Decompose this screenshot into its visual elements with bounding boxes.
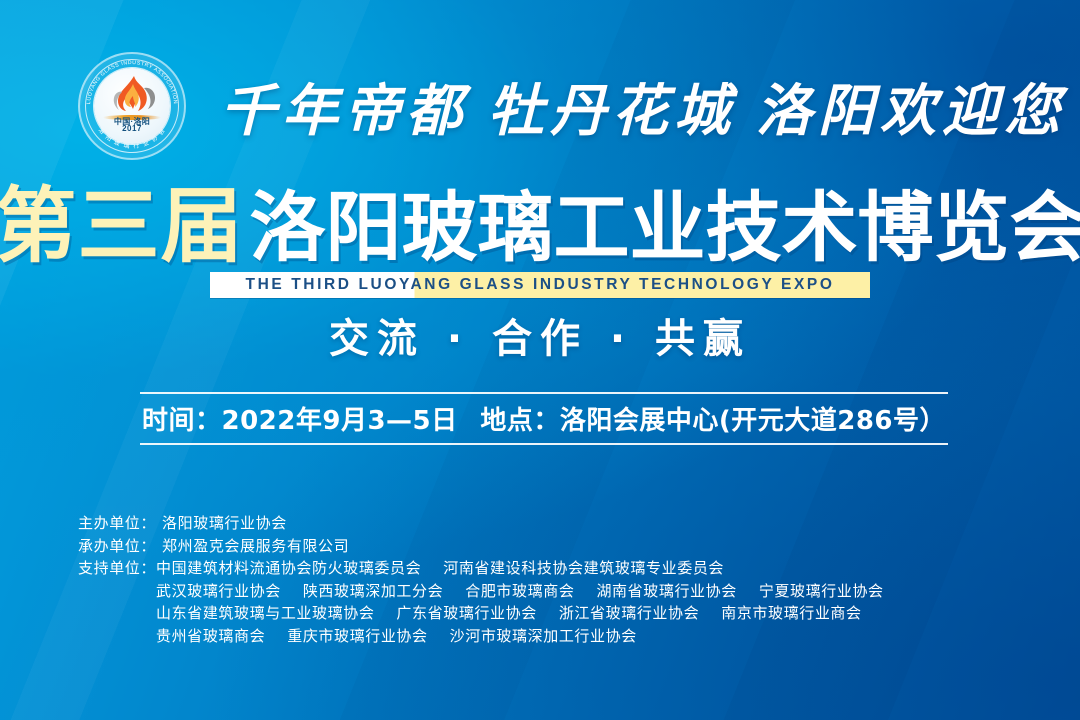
support-unit: 中国建筑材料流通协会防火玻璃委员会	[156, 557, 421, 580]
poster-header: LUOYANG GLASS INDUSTRY ASSOCIATION 洛 阳 玻…	[0, 46, 1080, 166]
support-label: 支持单位：	[78, 557, 156, 580]
english-title-text: THE THIRD LUOYANG GLASS INDUSTRY TECHNOL…	[210, 276, 870, 294]
support-row: 贵州省玻璃商会重庆市玻璃行业协会沙河市玻璃深加工行业协会	[156, 625, 884, 648]
event-place: 地点：洛阳会展中心(开元大道286号）	[480, 400, 946, 437]
support-unit: 河南省建设科技协会建筑玻璃专业委员会	[443, 557, 724, 580]
support-unit: 武汉玻璃行业协会	[156, 580, 281, 603]
support-row: 武汉玻璃行业协会陕西玻璃深加工分会合肥市玻璃商会湖南省玻璃行业协会宁夏玻璃行业协…	[156, 580, 884, 603]
details-inner: 时间：2022年9月3—5日 地点：洛阳会展中心(开元大道286号）	[140, 394, 948, 443]
support-unit: 陕西玻璃深加工分会	[303, 580, 443, 603]
host-line: 主办单位： 洛阳玻璃行业协会	[78, 512, 1018, 535]
support-row: 中国建筑材料流通协会防火玻璃委员会河南省建设科技协会建筑玻璃专业委员会	[156, 557, 884, 580]
title-row: 第三届 洛阳玻璃工业技术博览会	[0, 186, 1080, 268]
support-unit: 浙江省玻璃行业协会	[559, 602, 699, 625]
support-unit: 湖南省玻璃行业协会	[596, 580, 736, 603]
association-logo: LUOYANG GLASS INDUSTRY ASSOCIATION 洛 阳 玻…	[78, 52, 186, 160]
support-unit: 沙河市玻璃深加工行业协会	[450, 625, 637, 648]
title-block: 第三届 洛阳玻璃工业技术博览会 THE THIRD LUOYANG GLASS …	[0, 186, 1080, 298]
support-unit: 合肥市玻璃商会	[465, 580, 574, 603]
support-rows: 中国建筑材料流通协会防火玻璃委员会河南省建设科技协会建筑玻璃专业委员会武汉玻璃行…	[156, 557, 884, 647]
english-title-bar: THE THIRD LUOYANG GLASS INDUSTRY TECHNOL…	[210, 272, 870, 298]
sub-slogan: 交流 · 合作 · 共赢	[0, 306, 1080, 364]
support-unit: 广东省玻璃行业协会	[396, 602, 536, 625]
organizer-value: 郑州盈克会展服务有限公司	[162, 535, 349, 558]
logo-disc: 中国·洛阳 2017	[94, 68, 170, 144]
title-main: 洛阳玻璃工业技术博览会	[250, 188, 1080, 268]
support-unit: 南京市玻璃行业商会	[721, 602, 861, 625]
host-value: 洛阳玻璃行业协会	[162, 512, 287, 535]
band-rule-bottom	[140, 443, 948, 445]
support-unit: 贵州省玻璃商会	[156, 625, 265, 648]
details-band: 时间：2022年9月3—5日 地点：洛阳会展中心(开元大道286号）	[140, 392, 948, 445]
support-unit: 山东省建筑玻璃与工业玻璃协会	[156, 602, 374, 625]
support-unit: 宁夏玻璃行业协会	[759, 580, 884, 603]
event-time: 时间：2022年9月3—5日	[142, 400, 458, 437]
support-unit: 重庆市玻璃行业协会	[287, 625, 427, 648]
organizer-line: 承办单位： 郑州盈克会展服务有限公司	[78, 535, 1018, 558]
organizer-label: 承办单位：	[78, 535, 156, 558]
support-row: 山东省建筑玻璃与工业玻璃协会广东省玻璃行业协会浙江省玻璃行业协会南京市玻璃行业商…	[156, 602, 884, 625]
welcome-slogan: 千年帝都 牡丹花城 洛阳欢迎您	[220, 66, 1066, 147]
support-line: 支持单位： 中国建筑材料流通协会防火玻璃委员会河南省建设科技协会建筑玻璃专业委员…	[78, 557, 1018, 647]
title-edition: 第三届	[0, 186, 244, 268]
expo-poster: LUOYANG GLASS INDUSTRY ASSOCIATION 洛 阳 玻…	[0, 0, 1080, 720]
organizers-block: 主办单位： 洛阳玻璃行业协会 承办单位： 郑州盈克会展服务有限公司 支持单位： …	[78, 512, 1018, 647]
logo-year: 2017	[94, 124, 170, 134]
host-label: 主办单位：	[78, 512, 156, 535]
